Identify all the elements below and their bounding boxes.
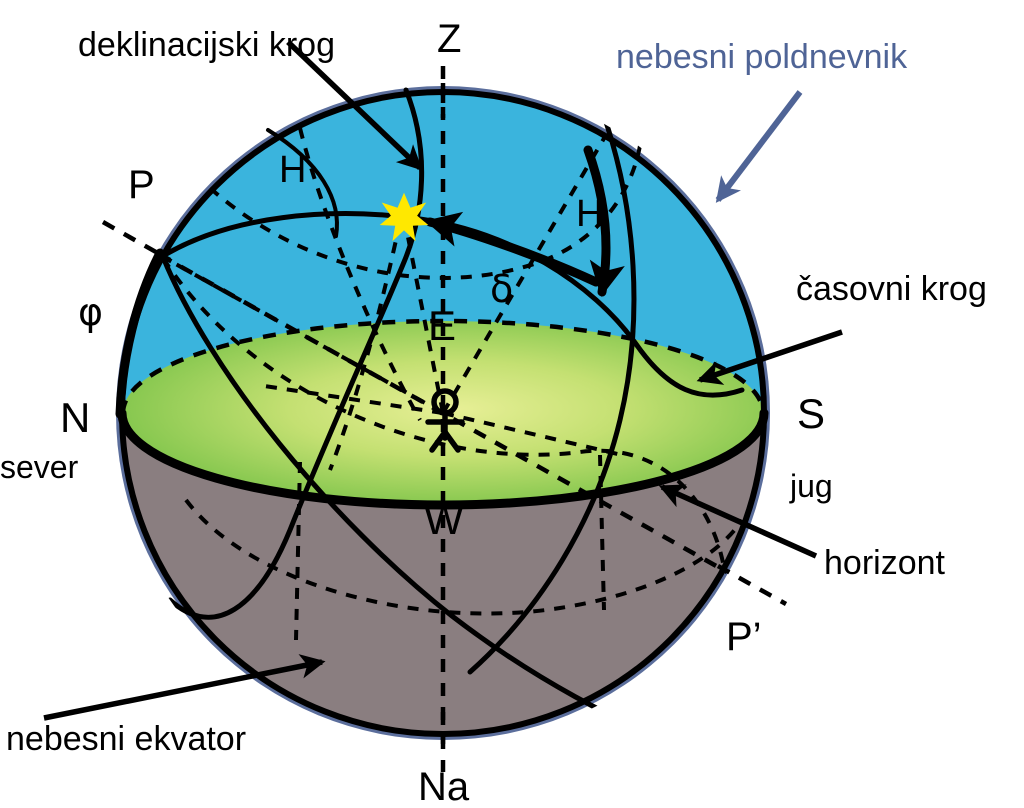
leader-celestial-meridian bbox=[718, 92, 800, 200]
point-north-celestial-pole: P bbox=[128, 163, 155, 207]
point-zenith: Z bbox=[437, 17, 461, 61]
angle-declination-delta: δ bbox=[490, 267, 513, 311]
cardinal-south-symbol: S bbox=[797, 390, 825, 437]
point-nadir: Na bbox=[418, 765, 470, 808]
callout-horizon: horizont bbox=[824, 544, 946, 582]
callout-declination-circle: deklinacijski krog bbox=[78, 26, 335, 64]
callout-hour-circle: časovni krog bbox=[796, 270, 987, 308]
point-south-celestial-pole: P’ bbox=[726, 615, 762, 659]
cardinal-west-symbol: W bbox=[424, 496, 464, 543]
callout-celestial-equator: nebesni ekvator bbox=[6, 720, 246, 758]
angle-hour-right: H bbox=[576, 193, 603, 235]
cardinal-south-name: jug bbox=[789, 468, 833, 504]
callout-celestial-meridian: nebesni poldnevnik bbox=[616, 38, 908, 76]
cardinal-north-symbol: N bbox=[60, 394, 90, 441]
cardinal-east-symbol: E bbox=[428, 302, 456, 349]
angle-hour-top: H bbox=[279, 149, 306, 191]
cardinal-north-name: sever bbox=[0, 449, 79, 485]
south-pole-axis-stub bbox=[718, 566, 786, 604]
diagram-canvas: deklinacijski krog nebesni poldnevnik ča… bbox=[0, 0, 1024, 808]
angle-latitude-phi: φ bbox=[78, 290, 103, 334]
celestial-sphere-diagram: deklinacijski krog nebesni poldnevnik ča… bbox=[0, 0, 1024, 808]
